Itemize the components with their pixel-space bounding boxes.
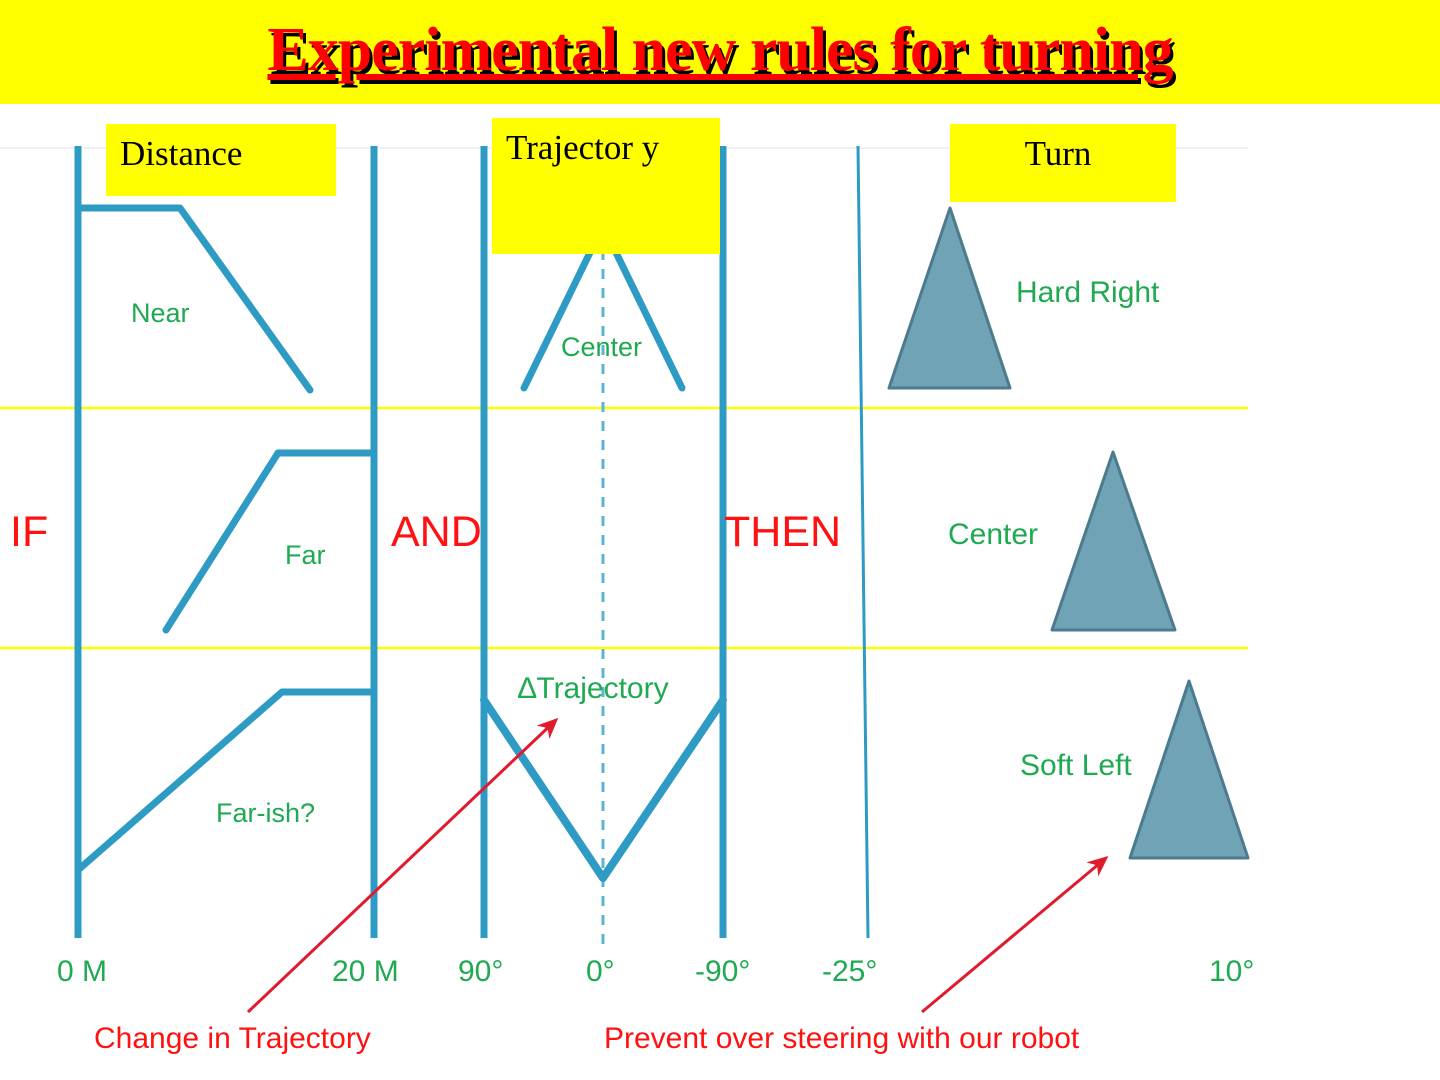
keyword-and: AND <box>391 508 482 557</box>
slide-canvas: Experimental new rules for turning <box>0 0 1440 1080</box>
membership-curve-far-ish <box>78 692 374 870</box>
set-label-soft-left: Soft Left <box>1020 749 1132 783</box>
set-label-hard-right: Hard Right <box>1016 276 1159 310</box>
turn-triangle-center <box>1052 452 1175 630</box>
membership-curve-near <box>78 208 310 390</box>
column-header-distance: Distance <box>106 124 336 196</box>
annotation-change-in-trajectory: Change in Trajectory <box>94 1022 371 1056</box>
keyword-if: IF <box>10 508 48 557</box>
column-header-turn: Turn <box>950 124 1176 202</box>
column-header-turn-label: Turn <box>1025 134 1092 173</box>
column-header-distance-label: Distance <box>120 134 242 173</box>
axis-tick-90deg: 90° <box>458 955 503 989</box>
column-header-trajectory-label: Trajector y <box>506 128 659 167</box>
arrow-prevent-over-steering <box>922 858 1106 1012</box>
set-label-center-turn: Center <box>948 518 1038 552</box>
axis-tick-0m: 0 M <box>57 955 107 989</box>
keyword-then: THEN <box>724 508 841 557</box>
axis-tick-20m: 20 M <box>332 955 399 989</box>
set-label-center-trajectory: Center <box>561 332 642 363</box>
axis-line-minus25deg <box>858 146 868 938</box>
arrow-change-in-trajectory <box>248 720 556 1012</box>
set-label-far-ish: Far-ish? <box>216 798 315 829</box>
membership-curve-far <box>166 453 374 630</box>
axis-tick-minus25deg: -25° <box>822 955 877 989</box>
annotation-prevent-over-steering: Prevent over steering with our robot <box>604 1022 1079 1056</box>
axis-tick-minus90deg: -90° <box>695 955 750 989</box>
turn-triangle-hard-right <box>889 208 1010 388</box>
axis-tick-10deg: 10° <box>1209 955 1254 989</box>
set-label-far: Far <box>285 540 326 571</box>
set-label-delta-trajectory: ∆Trajectory <box>518 672 669 706</box>
axis-tick-0deg: 0° <box>586 955 615 989</box>
column-header-trajectory: Trajector y <box>492 118 720 254</box>
set-label-near: Near <box>131 298 190 329</box>
turn-triangle-soft-left <box>1130 681 1248 858</box>
